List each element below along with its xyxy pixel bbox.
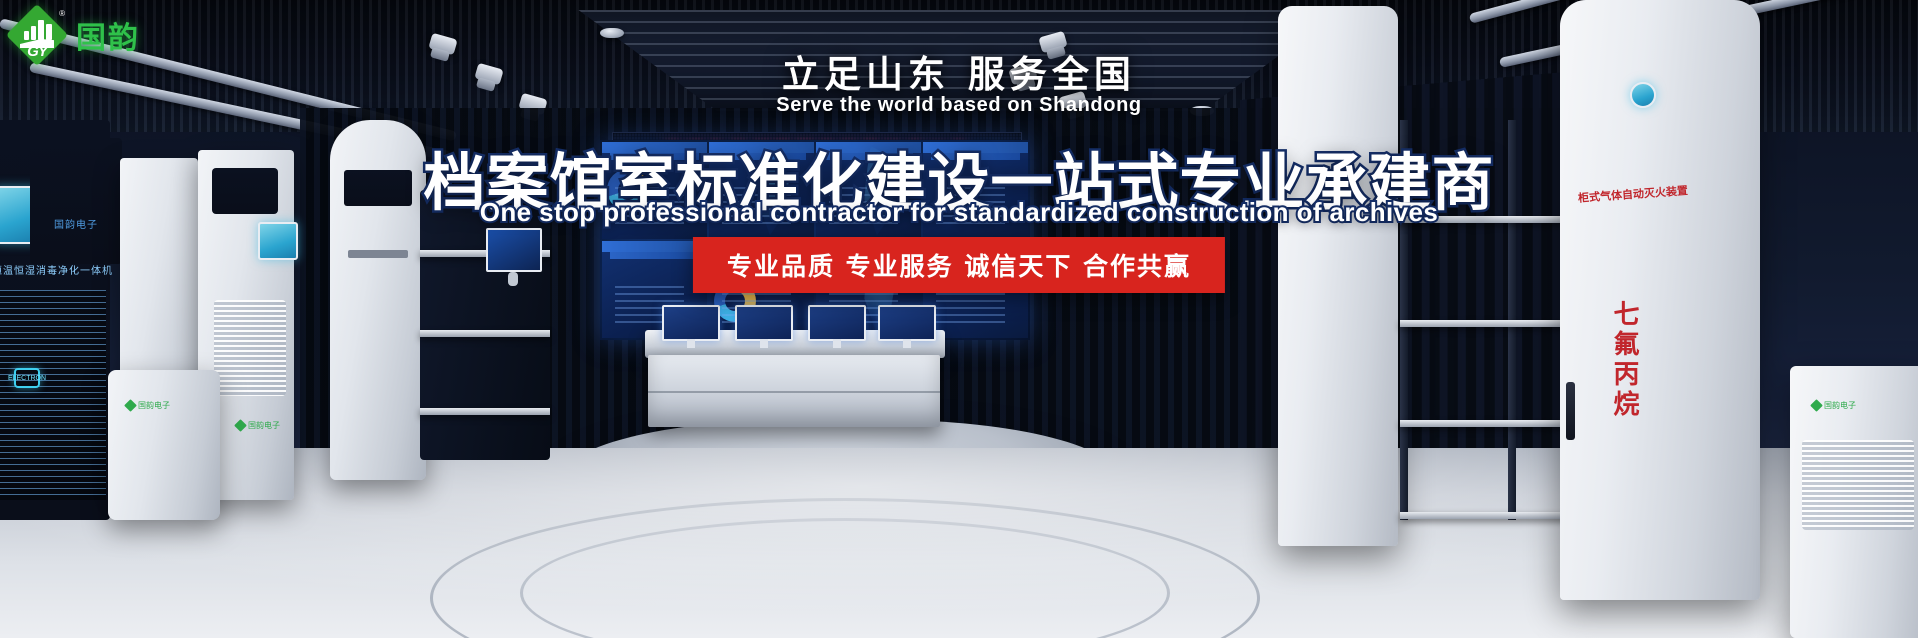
- hero-kicker-cn: 立足山东 服务全国: [0, 44, 1918, 98]
- hero-headline-en: One stop professional contractor for sta…: [0, 197, 1918, 228]
- hero-text-overlay: GY ® 国韵 立足山东 服务全国 Serve the world based …: [0, 0, 1918, 638]
- hero-slogan-bar: 专业品质 专业服务 诚信天下 合作共赢: [693, 237, 1225, 293]
- hero-banner: 欢迎各级领导莅临指导检查工作: [0, 0, 1918, 638]
- hero-kicker-en: Serve the world based on Shandong: [0, 94, 1918, 117]
- hero-slogan-text: 专业品质 专业服务 诚信天下 合作共赢: [727, 252, 1191, 281]
- registered-mark: ®: [59, 9, 65, 18]
- logo-buildings-icon: [24, 20, 52, 40]
